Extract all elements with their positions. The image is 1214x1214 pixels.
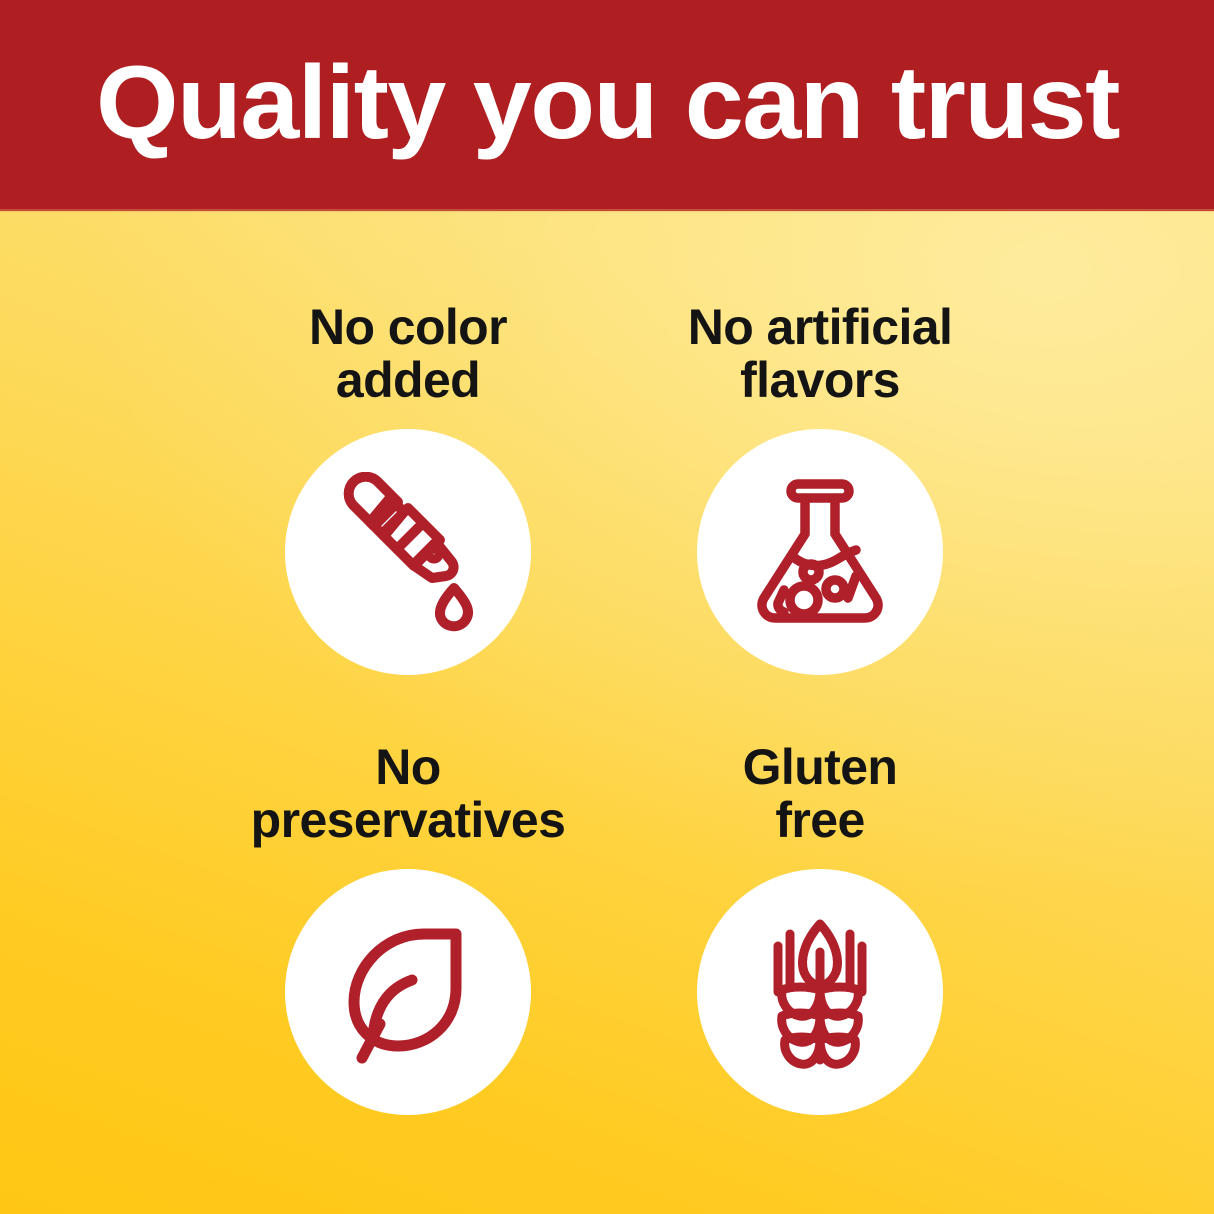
header-band: Quality you can trust (0, 0, 1214, 211)
dropper-icon (328, 472, 488, 632)
wheat-icon (740, 912, 900, 1072)
flask-icon (740, 472, 900, 632)
feature-label-no-artificial-flavors: No artificial flavors (688, 301, 953, 407)
page-title: Quality you can trust (96, 51, 1119, 161)
icon-circle-no-color-added (285, 429, 531, 675)
icon-circle-no-preservatives (285, 869, 531, 1115)
icon-circle-gluten-free (697, 869, 943, 1115)
leaf-icon (328, 912, 488, 1072)
feature-no-color-added: No color added (198, 301, 618, 675)
feature-no-artificial-flavors: No artificial flavors (610, 301, 1030, 675)
feature-label-no-color-added: No color added (309, 301, 507, 407)
feature-label-no-preservatives: No preservatives (251, 741, 566, 847)
feature-no-preservatives: No preservatives (198, 741, 618, 1115)
icon-circle-no-artificial-flavors (697, 429, 943, 675)
quality-you-can-trust-poster: Quality you can trust No color added (0, 0, 1214, 1214)
feature-gluten-free: Gluten free (610, 741, 1030, 1115)
feature-label-gluten-free: Gluten free (743, 741, 898, 847)
feature-grid: No color added (0, 211, 1214, 1214)
